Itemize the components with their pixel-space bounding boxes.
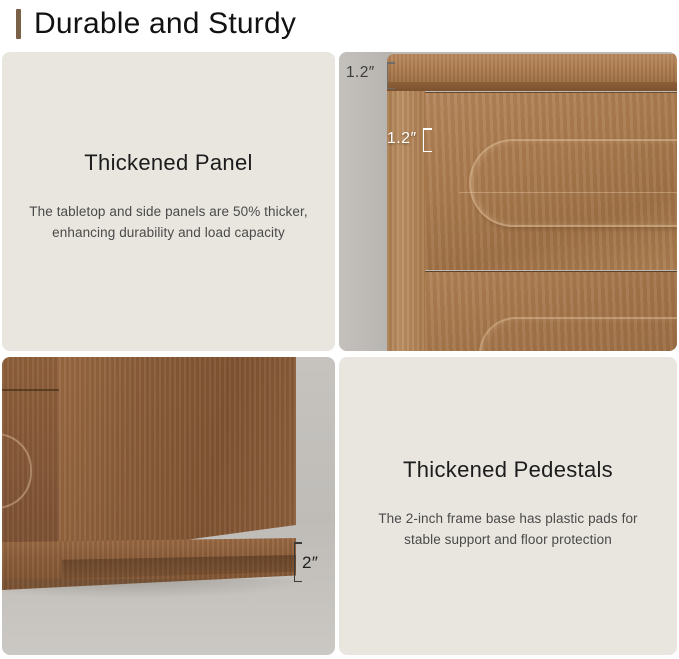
page-header: Durable and Sturdy (0, 0, 679, 48)
cabinet-tabletop-edge (387, 82, 677, 91)
measure-bracket-side-panel (423, 128, 424, 152)
pedestal-base-image: 2″ (2, 357, 335, 655)
photo-background-strip (339, 52, 393, 351)
cabinet-side-panel (387, 89, 425, 351)
drawer-arch-pull-lower (479, 317, 677, 351)
drawer-seam-line (2, 389, 59, 391)
feature-grid: Thickened Panel The tabletop and side pa… (0, 48, 679, 659)
panel-nightstand-corner-photo: 1.2″ 1.2″ (339, 52, 677, 351)
text-block: Thickened Pedestals The 2-inch frame bas… (339, 457, 677, 551)
panel-thickened-panel-text: Thickened Panel The tabletop and side pa… (2, 52, 335, 351)
text-block: Thickened Panel The tabletop and side pa… (2, 150, 335, 244)
panel-pedestal-base-photo: 2″ (2, 357, 335, 655)
dimension-label-side-panel: 1.2″ (387, 130, 417, 148)
drawer-arch-pull-upper (469, 139, 677, 227)
dimension-label-plinth: 2″ (302, 553, 318, 573)
dimension-label-tabletop: 1.2″ (346, 64, 375, 82)
title-accent-bar (16, 9, 21, 39)
feature-description-thickened-panel: The tabletop and side panels are 50% thi… (24, 202, 313, 244)
cabinet-body-side (59, 357, 296, 557)
feature-description-thickened-pedestals: The 2-inch frame base has plastic pads f… (361, 509, 655, 551)
nightstand-corner-image: 1.2″ 1.2″ (339, 52, 677, 351)
feature-title-thickened-pedestals: Thickened Pedestals (361, 457, 655, 483)
measure-bracket-tabletop (387, 62, 388, 89)
wood-highlight-line (459, 192, 677, 193)
page-title: Durable and Sturdy (34, 9, 296, 39)
floor-shadow (2, 579, 312, 599)
measure-bracket-plinth (294, 542, 295, 582)
feature-title-thickened-panel: Thickened Panel (24, 150, 313, 176)
panel-thickened-pedestals-text: Thickened Pedestals The 2-inch frame bas… (339, 357, 677, 655)
